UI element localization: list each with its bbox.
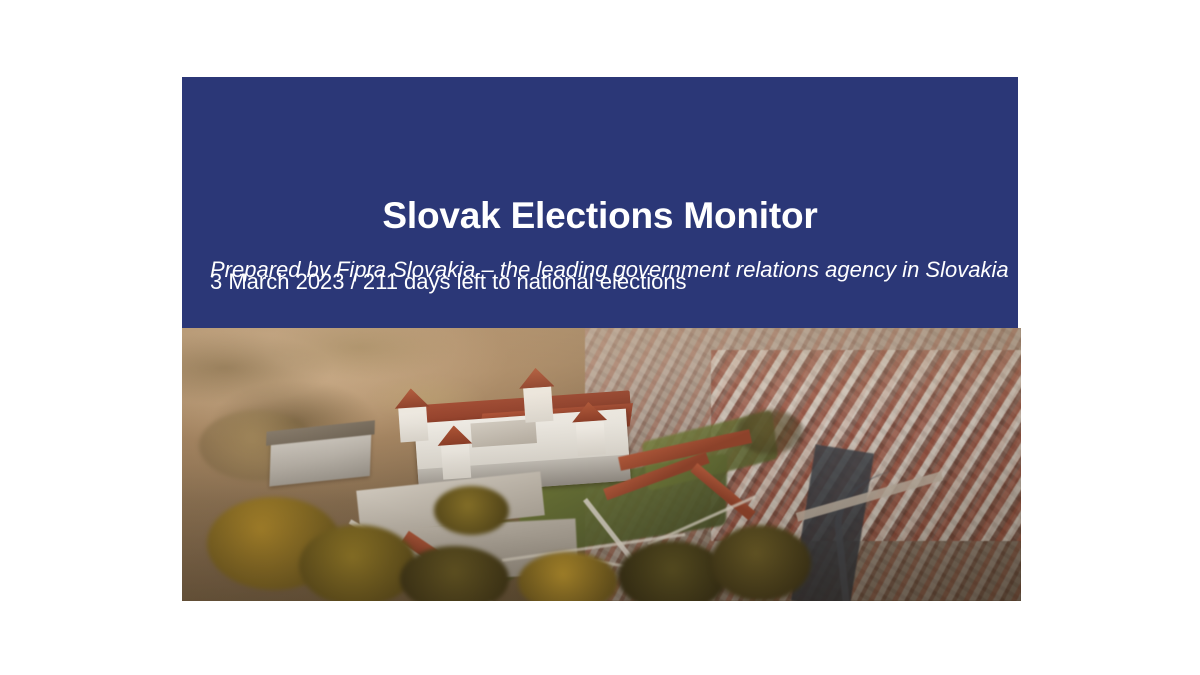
castle-courtyard xyxy=(470,420,537,448)
photo-autumn-trees-6 xyxy=(711,525,812,601)
photo-autumn-trees-3 xyxy=(400,546,509,601)
castle-tower-northeast xyxy=(523,386,553,423)
page-title: Slovak Elections Monitor xyxy=(182,197,1018,236)
byline-prepared-by: Prepared by Fipra Slovakia – the leading… xyxy=(210,255,1010,284)
castle-tower-southwest xyxy=(441,443,471,480)
photo-illustration xyxy=(182,328,1021,601)
photo-autumn-trees-2 xyxy=(299,525,416,601)
title-banner: Slovak Elections Monitor 3 March 2023 / … xyxy=(182,77,1018,328)
castle-tower-northwest xyxy=(398,406,428,443)
slide-canvas: Slovak Elections Monitor 3 March 2023 / … xyxy=(0,0,1200,675)
hero-photo-bratislava-castle xyxy=(182,328,1021,601)
castle-tower-southeast xyxy=(576,419,606,456)
